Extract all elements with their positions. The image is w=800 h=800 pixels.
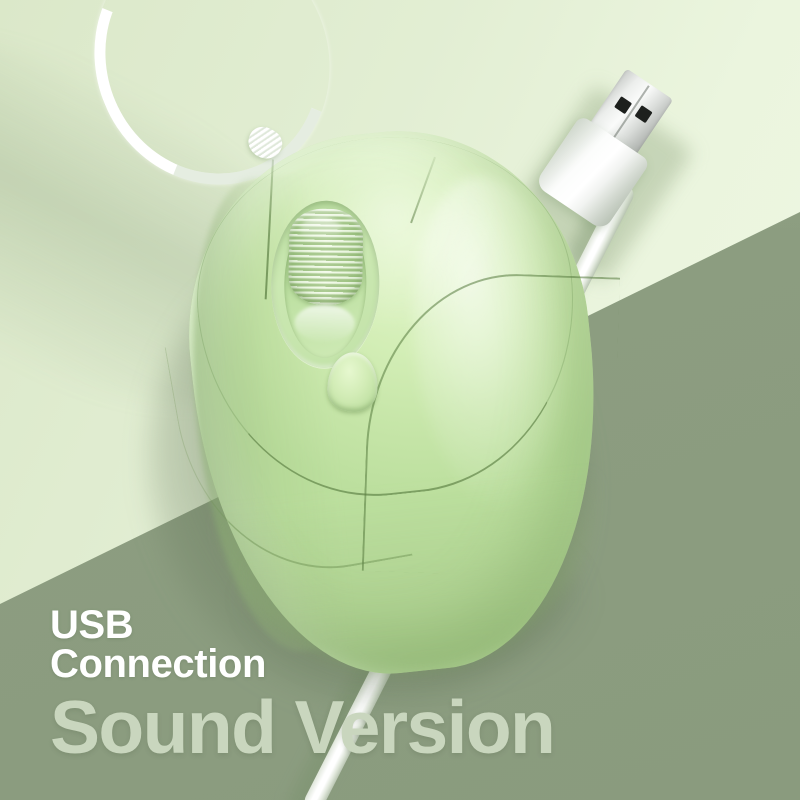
- scroll-wheel: [288, 209, 363, 306]
- headline-block: USB Connection Sound Version: [50, 606, 670, 765]
- headline-line-2: Connection: [50, 645, 670, 684]
- headline-subtitle: Sound Version: [50, 690, 670, 765]
- product-image-canvas: USB Connection Sound Version: [0, 0, 800, 800]
- headline-line-1: USB: [50, 606, 670, 645]
- scroll-wheel-gloss: [300, 216, 342, 242]
- computer-mouse: [169, 113, 623, 692]
- scroll-wheel-slot-gloss: [294, 304, 355, 342]
